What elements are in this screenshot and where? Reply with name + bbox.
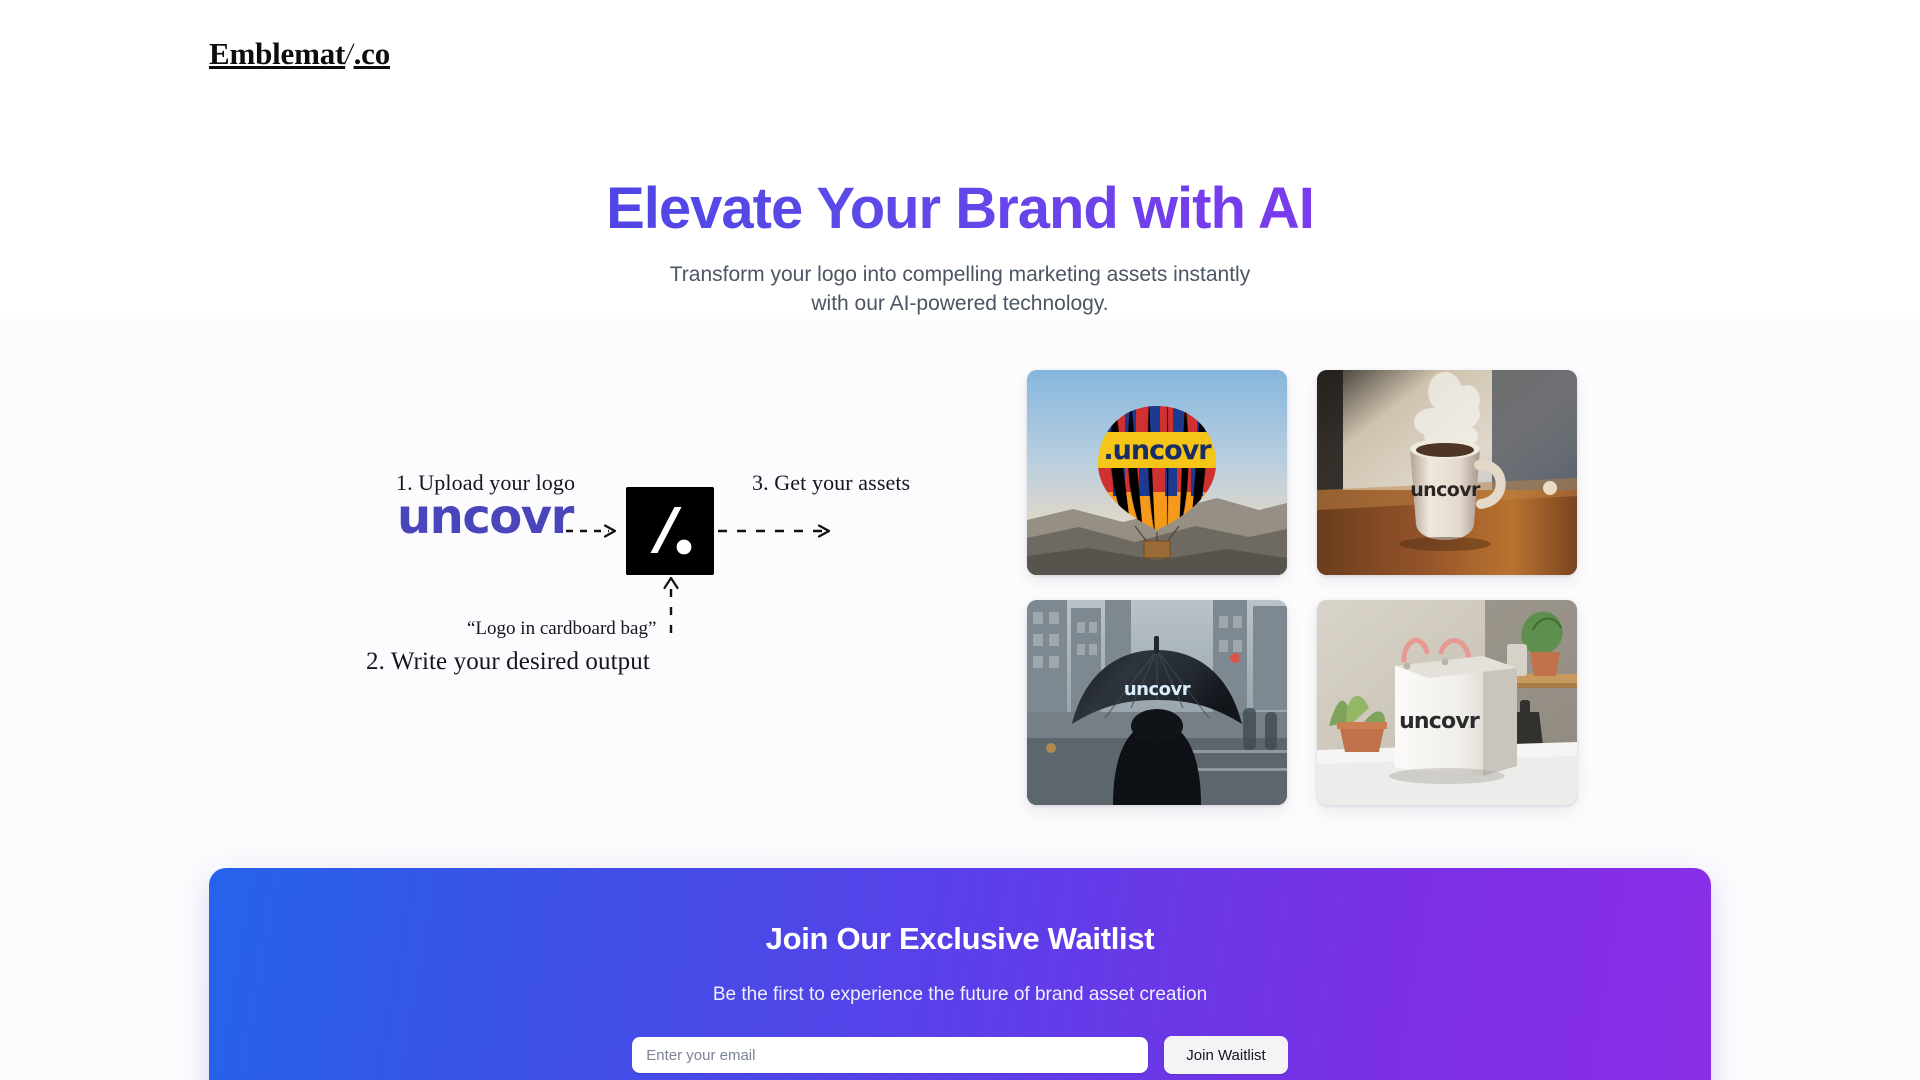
waitlist-subtitle: Be the first to experience the future of… — [209, 984, 1711, 1006]
hero-subtitle-line-1: Transform your logo into compelling mark… — [670, 263, 1250, 286]
hero-subtitle: Transform your logo into compelling mark… — [0, 260, 1920, 320]
svg-text:.uncovr: .uncovr — [1103, 435, 1212, 466]
page-title: Elevate Your Brand with AI — [606, 178, 1314, 241]
email-input[interactable] — [632, 1037, 1148, 1073]
landing-page: Emblemat/.co Elevate Your Brand with AI … — [0, 0, 1920, 1080]
flow-arrow-right-icon — [717, 524, 837, 543]
source-logo-wordmark: uncovr — [397, 493, 573, 541]
flow-prompt-quote: “Logo in cardboard bag” — [467, 618, 656, 640]
svg-text:uncovr: uncovr — [1410, 479, 1481, 501]
waitlist-section: Join Our Exclusive Waitlist Be the first… — [209, 868, 1711, 1080]
generated-asset-grid: .uncovr .uncovr — [1027, 370, 1711, 805]
brand-logo-tld: .co — [354, 36, 390, 71]
hero-subtitle-line-2: with our AI-powered technology. — [811, 292, 1108, 315]
flow-arrow-left-icon — [565, 524, 623, 543]
join-waitlist-button[interactable]: Join Waitlist — [1164, 1036, 1287, 1074]
asset-card-shopping-bag[interactable]: uncovr uncovr — [1317, 600, 1577, 805]
how-it-works-diagram: 1. Upload your logo uncovr — [209, 370, 999, 820]
flow-step-3-label: 3. Get your assets — [752, 470, 910, 496]
brand-logo[interactable]: Emblemat/.co — [209, 38, 390, 69]
flow-arrow-up-icon — [659, 575, 683, 640]
site-header: Emblemat/.co — [209, 26, 390, 80]
waitlist-form: Join Waitlist — [209, 1036, 1711, 1074]
flow-step-2-label: 2. Write your desired output — [366, 648, 650, 676]
svg-text:uncovr: uncovr — [1124, 679, 1191, 700]
svg-text:uncovr: uncovr — [1399, 709, 1480, 734]
asset-card-hot-air-balloon[interactable]: .uncovr .uncovr — [1027, 370, 1287, 575]
showcase-section: 1. Upload your logo uncovr — [209, 370, 1711, 820]
waitlist-title: Join Our Exclusive Waitlist — [209, 921, 1711, 957]
brand-logo-name: Emblemat — [209, 36, 345, 71]
hero-section: Elevate Your Brand with AI Transform you… — [0, 178, 1920, 319]
brand-logo-tile — [626, 487, 714, 575]
asset-card-coffee-mug[interactable]: uncovr uncovr — [1317, 370, 1577, 575]
asset-card-umbrella[interactable]: uncovr uncovr — [1027, 600, 1287, 805]
